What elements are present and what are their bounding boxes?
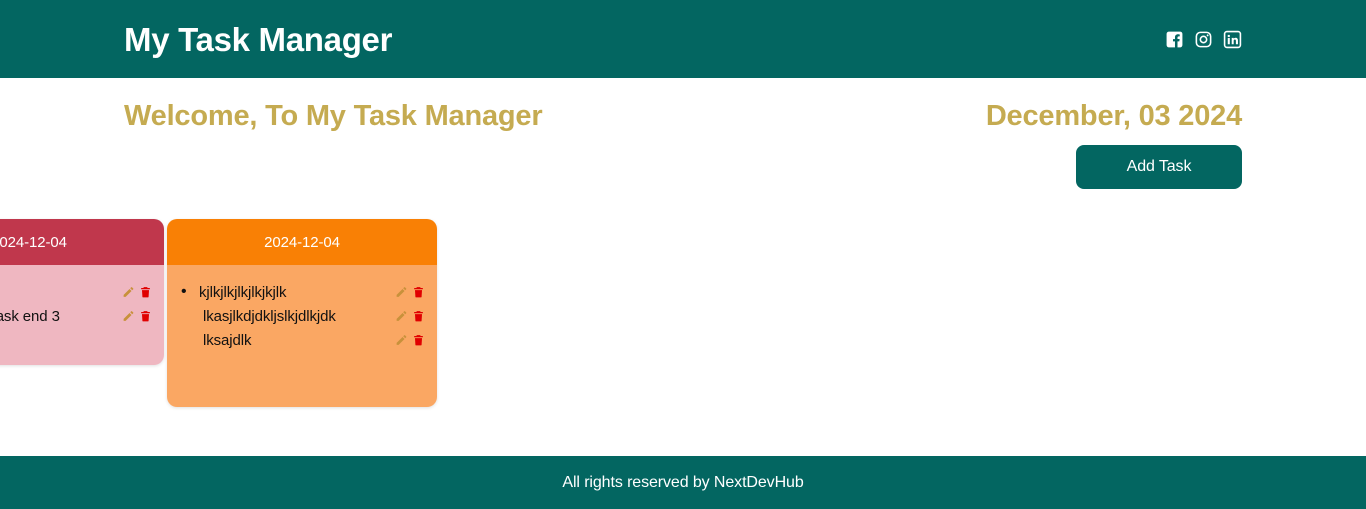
task-item: Previous task end 3: [0, 305, 152, 327]
task-item-text: lkasjlkdjdkljslkjdlkjdk: [181, 308, 336, 325]
welcome-row: Welcome, To My Task Manager December, 03…: [0, 78, 1366, 143]
task-card-date: 2024-12-04: [0, 219, 164, 265]
edit-pencil-icon[interactable]: [122, 309, 135, 323]
task-item-text: Previous task end 3: [0, 308, 60, 325]
site-footer: All rights reserved by NextDevHub: [0, 456, 1366, 509]
brand-title: My Task Manager: [124, 23, 392, 56]
task-item-text: lksajdlk: [181, 332, 251, 349]
welcome-heading: Welcome, To My Task Manager: [124, 100, 542, 133]
edit-pencil-icon[interactable]: [395, 285, 408, 299]
task-actions: [383, 333, 425, 347]
task-board: 2024-12-04klasjdlkjPrevious task end 320…: [0, 219, 437, 407]
delete-trash-icon[interactable]: [139, 309, 152, 323]
delete-trash-icon[interactable]: [412, 309, 425, 323]
delete-trash-icon[interactable]: [139, 285, 152, 299]
task-item: lksajdlk: [181, 329, 425, 351]
task-item-text: kjlkjlkjlkjlkjkjlk: [181, 283, 286, 301]
add-task-area: Add Task: [1076, 145, 1242, 189]
task-card-date: 2024-12-04: [167, 219, 437, 265]
facebook-icon[interactable]: [1165, 30, 1184, 49]
task-card: 2024-12-04kjlkjlkjlkjlkjkjlklkasjlkdjdkl…: [167, 219, 437, 407]
task-item: kjlkjlkjlkjlkjkjlk: [181, 281, 425, 303]
task-actions: [383, 285, 425, 299]
edit-pencil-icon[interactable]: [122, 285, 135, 299]
task-actions: [383, 309, 425, 323]
edit-pencil-icon[interactable]: [395, 309, 408, 323]
site-header: My Task Manager: [0, 0, 1366, 78]
task-actions: [110, 309, 152, 323]
social-links: [1165, 30, 1242, 49]
task-card: 2024-12-04klasjdlkjPrevious task end 3: [0, 219, 164, 365]
footer-text: All rights reserved by NextDevHub: [562, 474, 803, 492]
current-date: December, 03 2024: [986, 100, 1242, 133]
task-list: klasjdlkjPrevious task end 3: [0, 265, 164, 365]
delete-trash-icon[interactable]: [412, 333, 425, 347]
app-root: My Task Manager Welcome, To My Task Mana…: [0, 0, 1366, 509]
linkedin-icon[interactable]: [1223, 30, 1242, 49]
delete-trash-icon[interactable]: [412, 285, 425, 299]
add-task-button[interactable]: Add Task: [1076, 145, 1242, 189]
task-item: lkasjlkdjdkljslkjdlkjdk: [181, 305, 425, 327]
task-actions: [110, 285, 152, 299]
instagram-icon[interactable]: [1194, 30, 1213, 49]
task-list: kjlkjlkjlkjlkjkjlklkasjlkdjdkljslkjdlkjd…: [167, 265, 437, 407]
edit-pencil-icon[interactable]: [395, 333, 408, 347]
task-item: klasjdlkj: [0, 281, 152, 303]
